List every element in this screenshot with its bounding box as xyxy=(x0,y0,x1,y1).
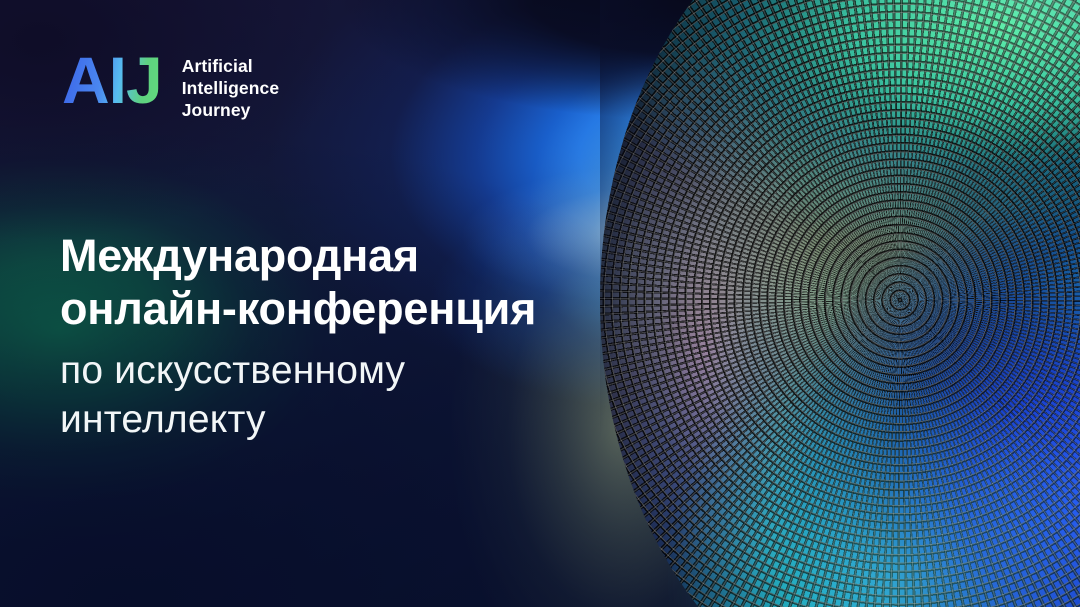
headline-primary-line-1: Международная xyxy=(60,230,680,283)
headline-secondary: по искусственному интеллекту xyxy=(60,346,680,444)
aij-logo: AIJ Artificial Intelligence Journey xyxy=(62,50,279,121)
aij-logo-wordmark: Artificial Intelligence Journey xyxy=(182,50,279,121)
headline-primary-line-2: онлайн-конференция xyxy=(60,283,680,336)
headline-block: Международная онлайн-конференция по иску… xyxy=(60,230,680,445)
logo-word-line-1: Artificial xyxy=(182,55,279,77)
logo-word-line-2: Intelligence xyxy=(182,77,279,99)
logo-word-line-3: Journey xyxy=(182,99,279,121)
aij-logo-mark: AIJ xyxy=(62,50,164,111)
headline-secondary-line-1: по искусственному xyxy=(60,346,680,395)
conference-poster: AIJ Artificial Intelligence Journey Межд… xyxy=(0,0,1080,607)
headline-secondary-line-2: интеллекту xyxy=(60,395,680,444)
headline-primary: Международная онлайн-конференция xyxy=(60,230,680,335)
